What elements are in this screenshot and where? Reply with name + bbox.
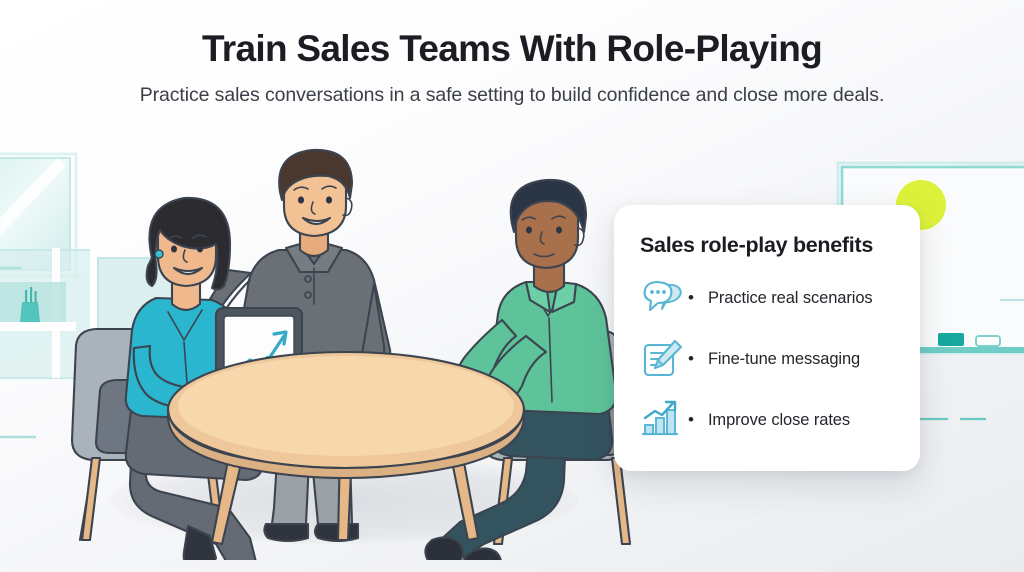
marker-icon xyxy=(938,333,964,346)
bullet-glyph: • xyxy=(688,287,694,309)
benefit-label: Improve close rates xyxy=(708,409,850,431)
slide-canvas: Train Sales Teams With Role-Playing Prac… xyxy=(0,0,1024,572)
page-title: Train Sales Teams With Role-Playing xyxy=(0,26,1024,72)
page-subtitle: Practice sales conversations in a safe s… xyxy=(0,82,1024,108)
document-pencil-icon xyxy=(640,337,686,381)
round-wooden-table xyxy=(168,352,524,544)
header: Train Sales Teams With Role-Playing Prac… xyxy=(0,26,1024,108)
bullet-glyph: • xyxy=(688,409,694,431)
benefits-list: • Practice real scenarios • Fine-tune me… xyxy=(640,267,898,450)
eraser-icon xyxy=(976,336,1000,346)
bullet-glyph: • xyxy=(688,348,694,370)
card-title: Sales role-play benefits xyxy=(640,231,898,259)
list-item: • Practice real scenarios xyxy=(640,267,898,328)
benefit-label: Practice real scenarios xyxy=(708,287,873,309)
benefits-card: Sales role-play benefits • Practice real… xyxy=(614,205,920,471)
illustration-three-colleagues: .ol { stroke:#3c4450; stroke-width:2.1; … xyxy=(60,140,640,560)
bar-chart-arrow-icon xyxy=(640,398,686,442)
list-item: • Improve close rates xyxy=(640,389,898,450)
speech-bubbles-icon xyxy=(640,276,686,320)
list-item: • Fine-tune messaging xyxy=(640,328,898,389)
benefit-label: Fine-tune messaging xyxy=(708,348,860,370)
